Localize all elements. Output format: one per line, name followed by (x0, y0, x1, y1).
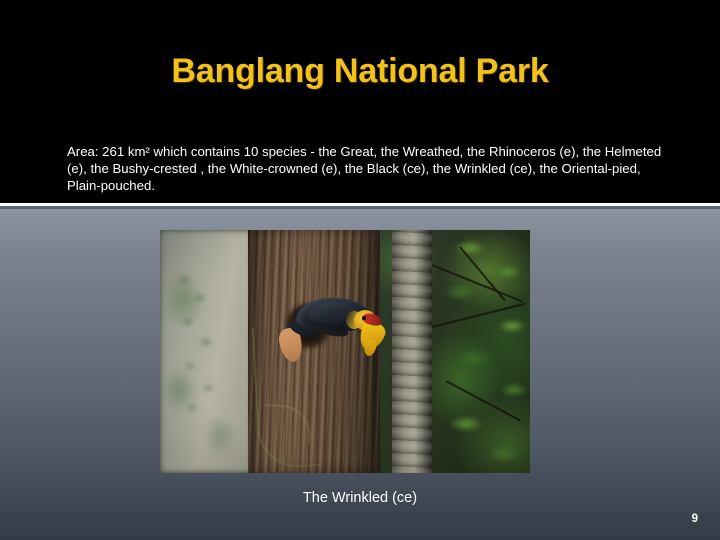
bird-bill-tip (362, 339, 377, 357)
fern-foliage (172, 270, 242, 420)
hornbill-bird (278, 292, 388, 378)
photo-caption: The Wrinkled (ce) (0, 490, 720, 506)
page-number: 9 (692, 513, 698, 525)
body-paragraph: Area: 261 km² which contains 10 species … (67, 143, 675, 195)
photo-canvas (160, 230, 530, 473)
foliage-cluster (430, 230, 530, 473)
slide: Banglang National Park Area: 261 km² whi… (0, 0, 720, 540)
hornbill-photo (160, 230, 530, 473)
page-title: Banglang National Park (0, 52, 720, 91)
slim-trunk-texture (392, 230, 432, 473)
bird-eye (362, 316, 366, 320)
